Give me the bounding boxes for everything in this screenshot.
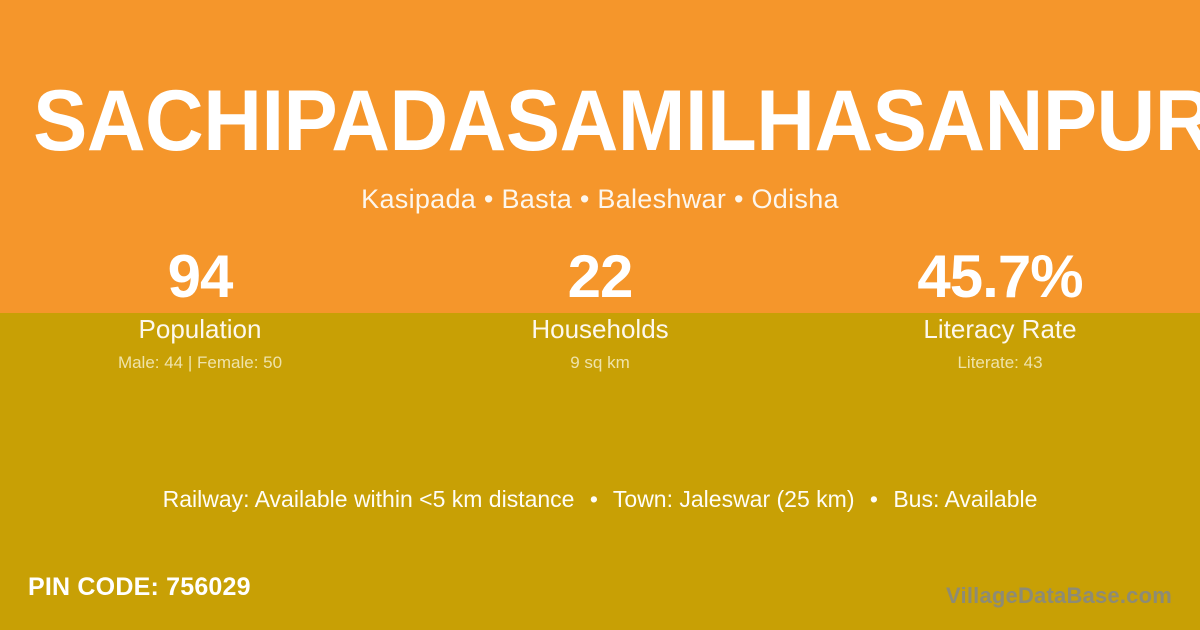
stat-households: 22 Households 9 sq km bbox=[400, 240, 800, 390]
bullet-separator-icon: • bbox=[581, 486, 607, 514]
header: SACHIPADASAMILHASANPUR Kasipada • Basta … bbox=[0, 0, 1200, 240]
stat-label: Literacy Rate bbox=[800, 316, 1200, 342]
stat-detail: Literate: 43 bbox=[800, 354, 1200, 371]
brand-watermark: VillageDataBase.com bbox=[946, 585, 1172, 607]
stat-label: Households bbox=[400, 316, 800, 342]
village-info-card: SACHIPADASAMILHASANPUR Kasipada • Basta … bbox=[0, 0, 1200, 630]
railway-info: Railway: Available within <5 km distance bbox=[163, 486, 575, 512]
breadcrumb: Kasipada • Basta • Baleshwar • Odisha bbox=[0, 183, 1200, 215]
stat-literacy-rate: 45.7% Literacy Rate Literate: 43 bbox=[800, 240, 1200, 390]
stat-label: Population bbox=[0, 316, 400, 342]
stats-row: 94 Population Male: 44 | Female: 50 22 H… bbox=[0, 240, 1200, 390]
pin-code: PIN CODE: 756029 bbox=[28, 575, 251, 600]
page-title: SACHIPADASAMILHASANPUR bbox=[33, 78, 1167, 164]
infrastructure-line: Railway: Available within <5 km distance… bbox=[0, 486, 1200, 514]
stat-value: 22 bbox=[400, 247, 800, 307]
stat-detail: Male: 44 | Female: 50 bbox=[0, 354, 400, 371]
stat-value: 45.7% bbox=[800, 247, 1200, 307]
town-info: Town: Jaleswar (25 km) bbox=[613, 486, 855, 512]
stat-value: 94 bbox=[0, 247, 400, 307]
stat-population: 94 Population Male: 44 | Female: 50 bbox=[0, 240, 400, 390]
bus-info: Bus: Available bbox=[893, 486, 1037, 512]
stat-detail: 9 sq km bbox=[400, 354, 800, 371]
bullet-separator-icon: • bbox=[861, 486, 887, 514]
